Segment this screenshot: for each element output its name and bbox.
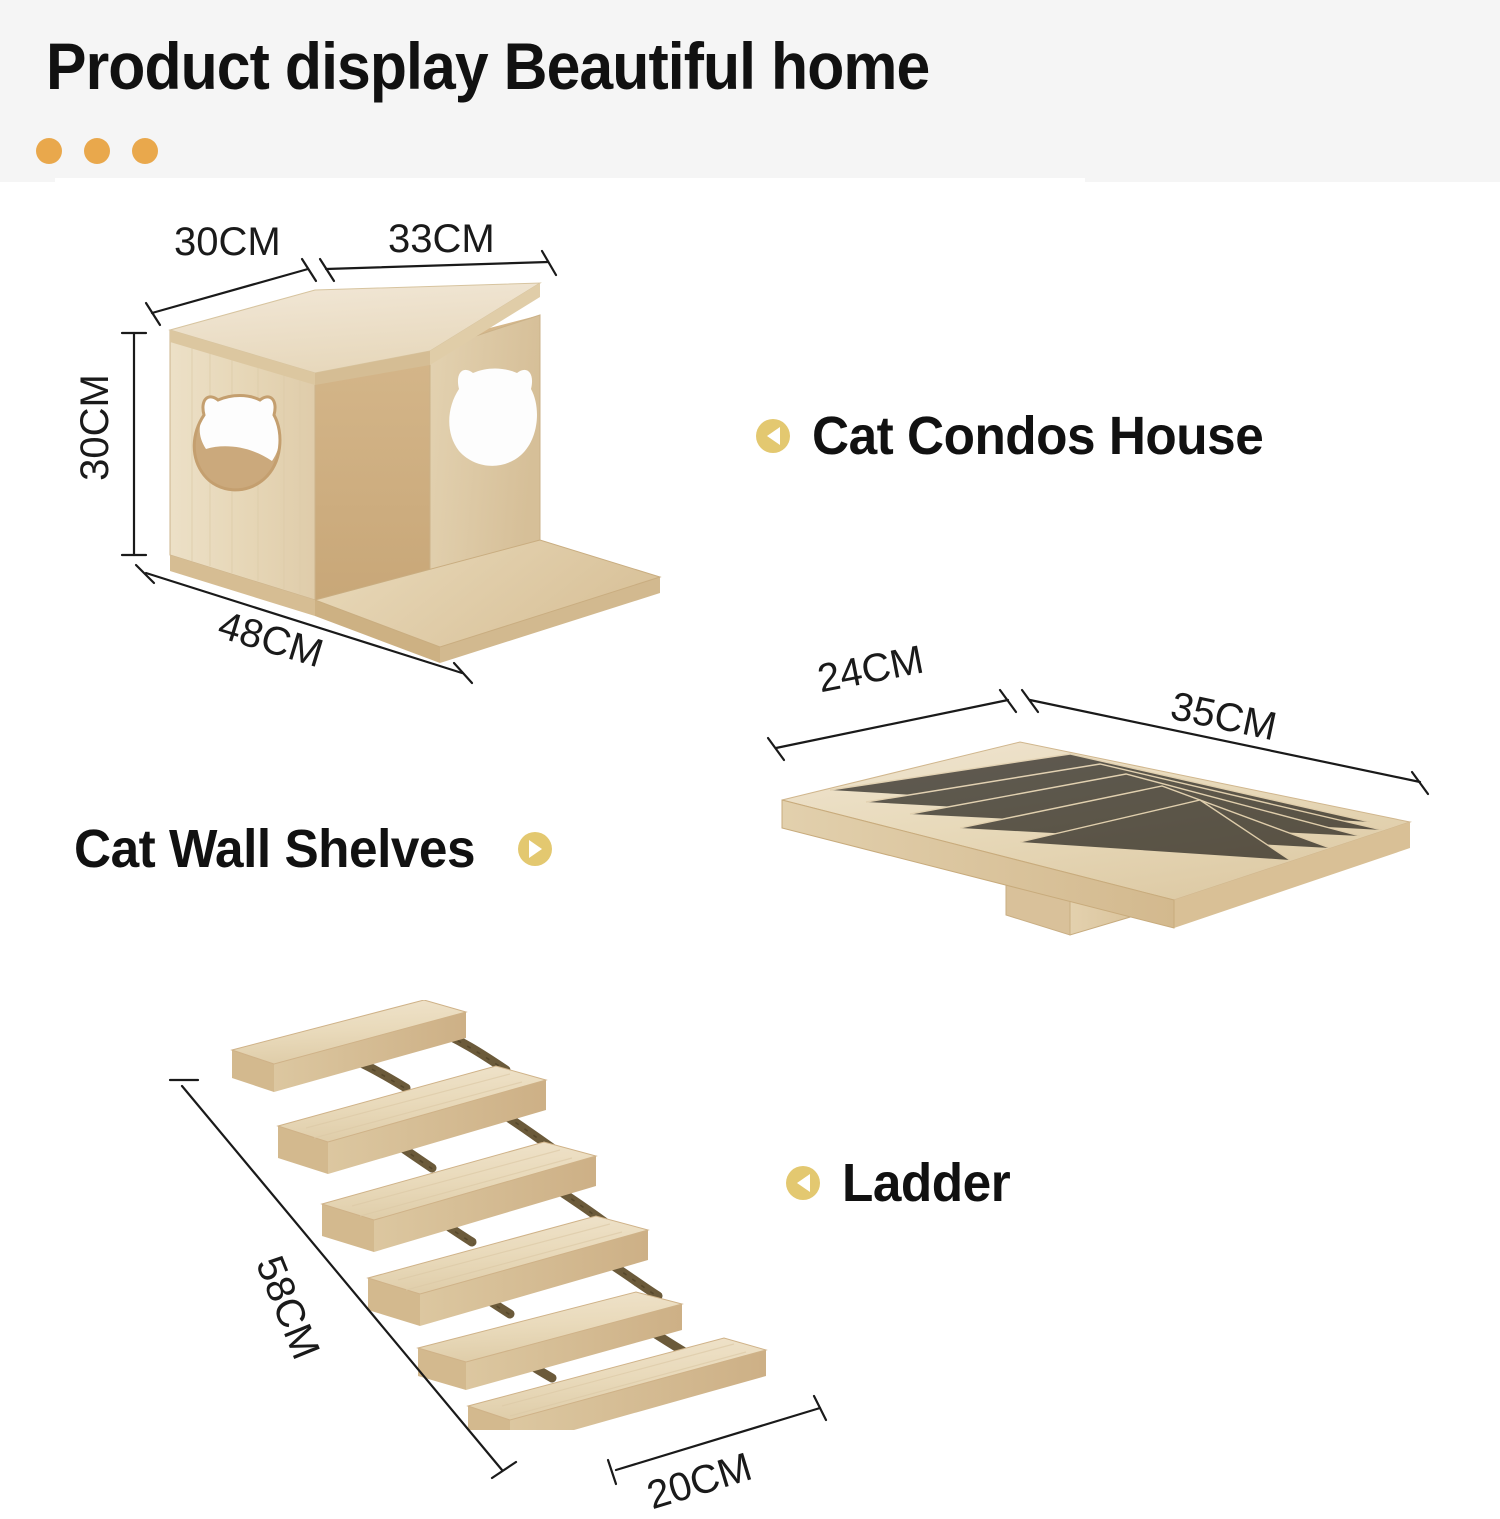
caption-label-cat-wall-shelves: Cat Wall Shelves	[74, 818, 475, 880]
caption-cat-condos-house: Cat Condos House	[756, 405, 1287, 467]
cat-condos-house-illustration: 30CM 33CM 30CM 48CM	[140, 255, 680, 685]
ladder-dim-20: 20CM	[642, 1445, 757, 1519]
product-display-page: Product display Beautiful home	[0, 0, 1500, 1500]
condo-dim-33-width: 33CM	[388, 217, 495, 262]
cat-wall-shelves-illustration: 24CM 35CM	[770, 690, 1430, 950]
page-title: Product display Beautiful home	[46, 28, 929, 104]
triangle-right-icon	[518, 832, 552, 866]
caption-cat-wall-shelves: Cat Wall Shelves	[74, 818, 552, 880]
header-notch	[55, 178, 1085, 188]
condo-dim-30-depth: 30CM	[174, 220, 281, 265]
header-dots	[36, 138, 158, 164]
caption-label-ladder: Ladder	[842, 1152, 1010, 1214]
caption-ladder: Ladder	[786, 1152, 1019, 1214]
header-dot-3	[132, 138, 158, 164]
caption-label-cat-condos-house: Cat Condos House	[812, 405, 1263, 467]
header-dot-2	[84, 138, 110, 164]
condo-dim-30-height: 30CM	[73, 374, 118, 481]
header-dot-1	[36, 138, 62, 164]
ladder-illustration: 58CM 20CM	[210, 1000, 830, 1420]
triangle-left-icon	[786, 1166, 820, 1200]
triangle-left-icon	[756, 419, 790, 453]
